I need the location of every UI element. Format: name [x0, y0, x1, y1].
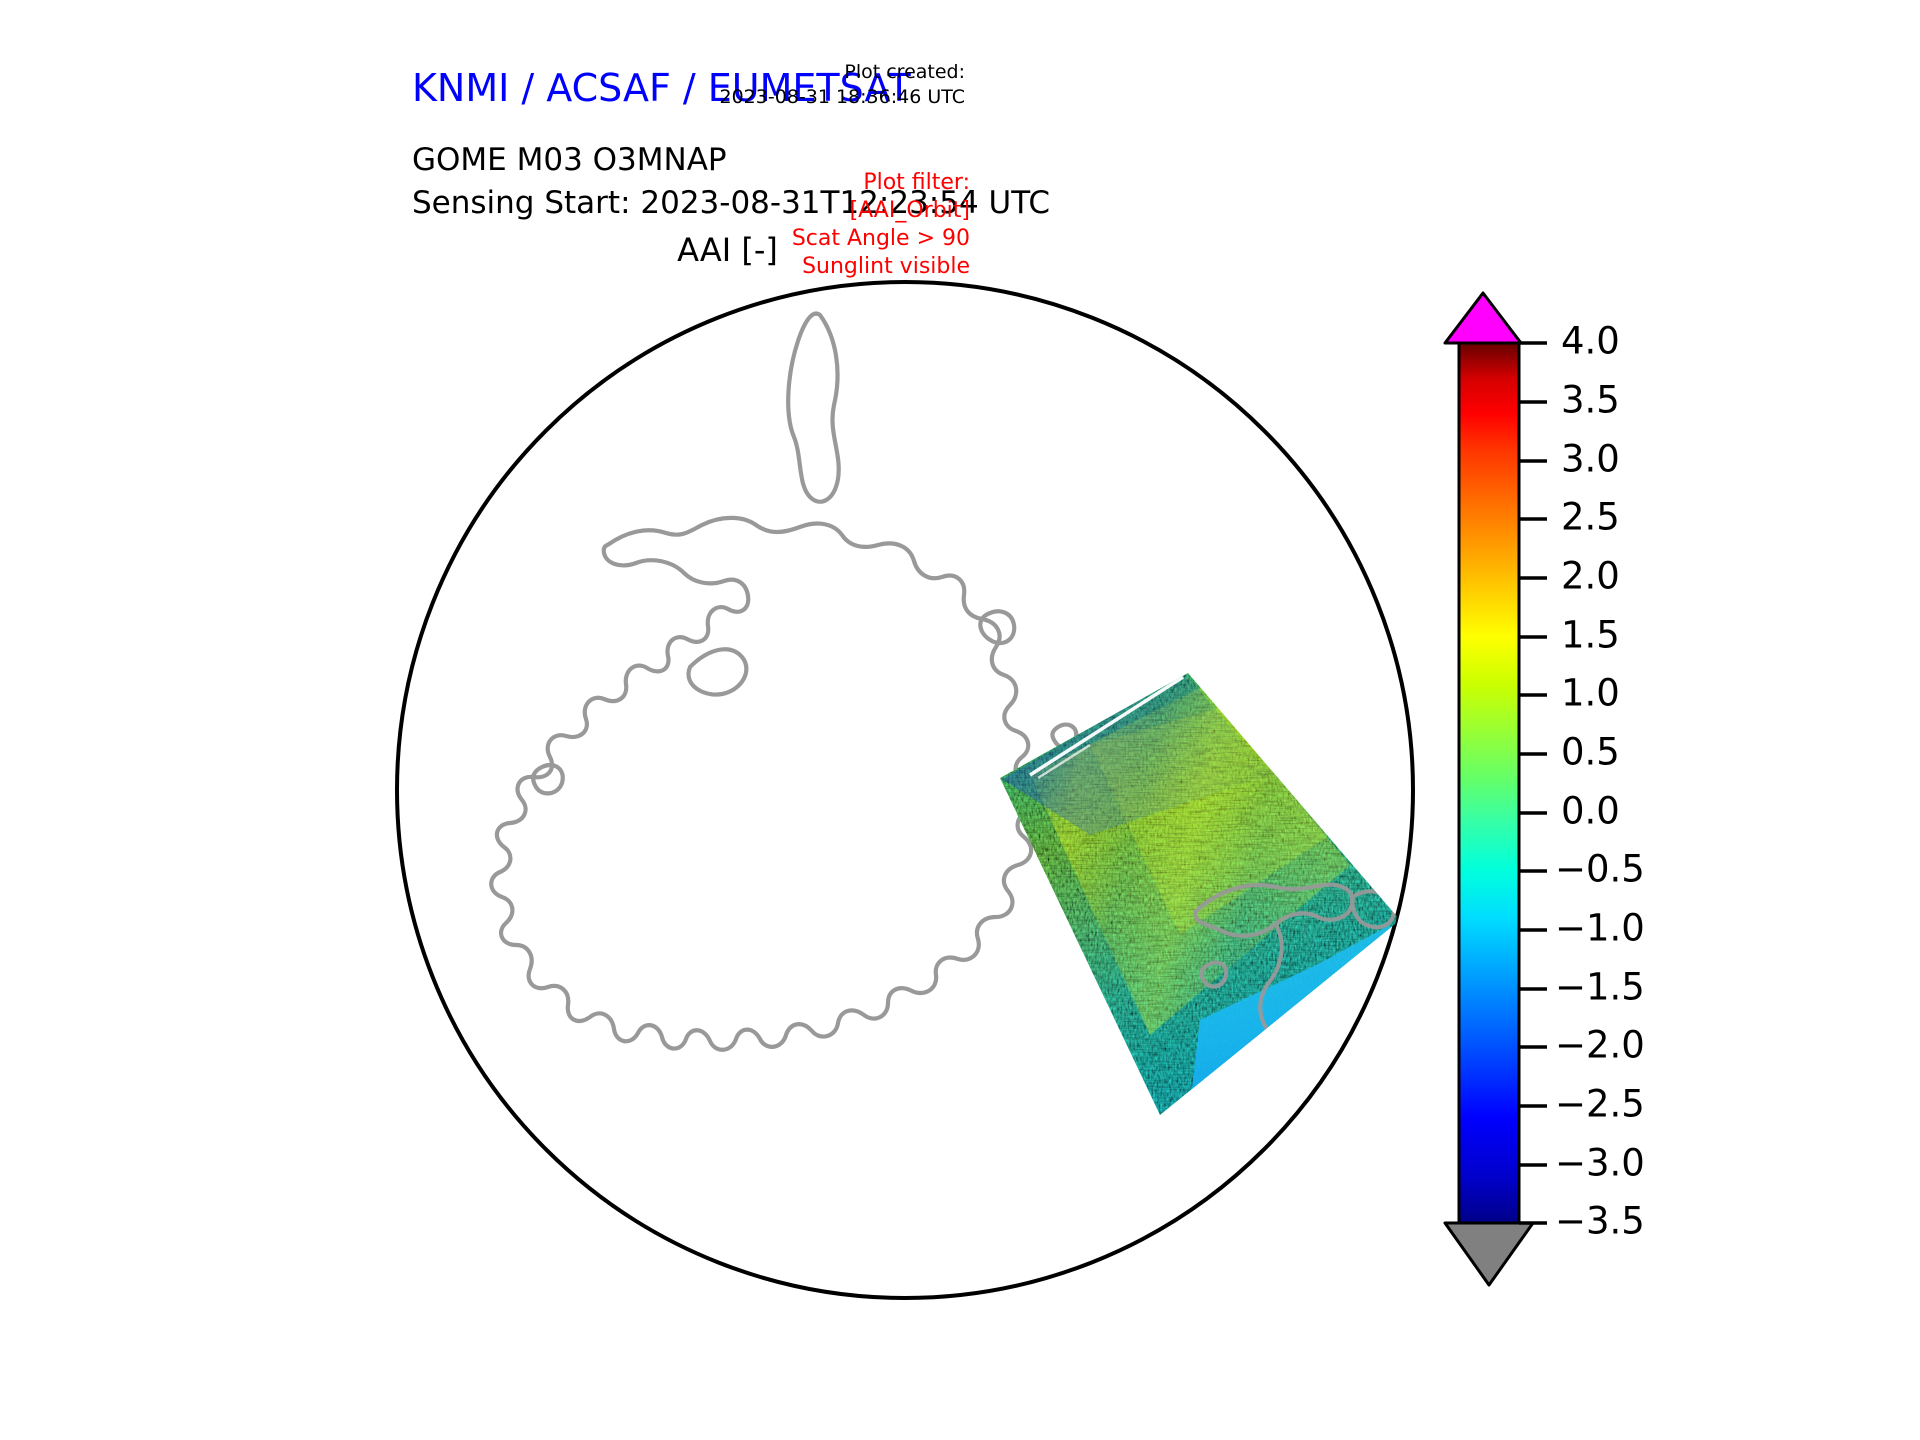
colorbar-tick-labels: 4.0 3.5 3.0 2.5 2.0 1.5 1.0 0.5 0.0 −0.5…	[1555, 320, 1645, 1243]
colorbar-tick-label: 3.5	[1561, 379, 1620, 422]
colorbar-tick-label: 1.5	[1561, 614, 1620, 657]
colorbar-tick-label: −2.0	[1555, 1024, 1645, 1067]
colorbar[interactable]: 4.0 3.5 3.0 2.5 2.0 1.5 1.0 0.5 0.0 −0.5…	[1443, 285, 1773, 1305]
colorbar-under-range-arrow	[1445, 1223, 1533, 1285]
plot-created-label: Plot created:	[720, 60, 966, 85]
colorbar-tick-label: 2.5	[1561, 496, 1620, 539]
colorbar-tick-label: 1.0	[1561, 672, 1620, 715]
plot-filter-scat-angle: Scat Angle > 90	[792, 225, 970, 253]
colorbar-tick-label: −3.5	[1555, 1200, 1645, 1243]
colorbar-tick-label: 2.0	[1561, 555, 1620, 598]
colorbar-tick-label: −2.5	[1555, 1083, 1645, 1126]
colorbar-tick-label: 0.5	[1561, 731, 1620, 774]
colorbar-tick-label: −1.0	[1555, 907, 1645, 950]
page-title: AAI [-]	[0, 231, 1455, 269]
colorbar-tick-label: −0.5	[1555, 848, 1645, 891]
plot-filter-orbit: [AAI_Orbit]	[792, 197, 970, 225]
plot-filter-block: Plot filter: [AAI_Orbit] Scat Angle > 90…	[792, 169, 970, 281]
colorbar-tick-label: 3.0	[1561, 438, 1620, 481]
colorbar-ticks	[1519, 343, 1547, 1223]
colorbar-tick-label: 4.0	[1561, 320, 1620, 363]
colorbar-over-range-arrow	[1445, 293, 1521, 343]
colorbar-tick-label: −3.0	[1555, 1142, 1645, 1185]
colorbar-tick-label: 0.0	[1561, 790, 1620, 833]
map-panel[interactable]	[390, 275, 1420, 1305]
plot-filter-label: Plot filter:	[792, 169, 970, 197]
plot-created-block: Plot created: 2023-08-31 18:36:46 UTC	[720, 60, 966, 110]
colorbar-tick-label: −1.5	[1555, 966, 1645, 1009]
colorbar-gradient	[1459, 343, 1519, 1223]
plot-created-timestamp: 2023-08-31 18:36:46 UTC	[720, 85, 966, 110]
